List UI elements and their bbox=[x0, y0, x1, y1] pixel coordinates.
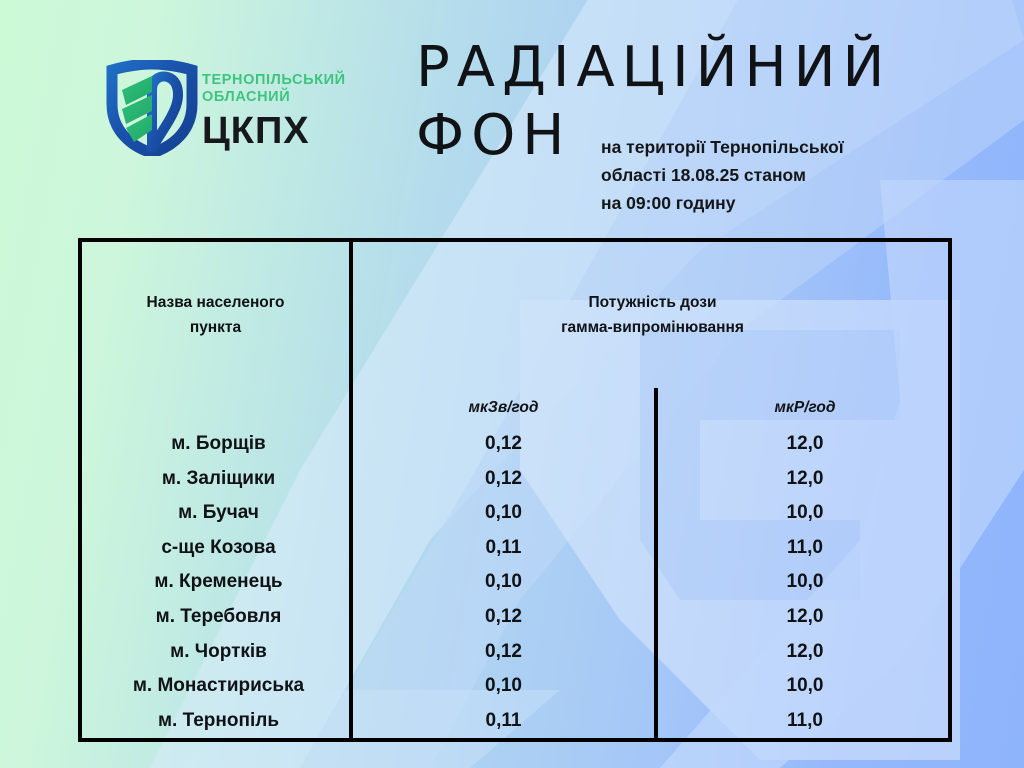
subtitle-line3: на 09:00 годину bbox=[601, 189, 971, 217]
header-dose-line1: Потужність дози bbox=[353, 290, 952, 315]
organization-logo: ТЕРНОПІЛЬСЬКИЙ ОБЛАСНИЙ ЦКПХ bbox=[106, 58, 406, 168]
cell-settlement-name: м. Тернопіль bbox=[82, 703, 351, 738]
cell-settlement-name: с-ще Козова bbox=[82, 531, 351, 566]
cell-dose-usv: 0,10 bbox=[351, 565, 656, 600]
subtitle-line2: області 18.08.25 станом bbox=[601, 161, 971, 189]
cell-dose-usv: 0,12 bbox=[351, 600, 656, 635]
cell-settlement-name: м. Борщів bbox=[82, 427, 351, 462]
table-row: м. Борщів0,1212,0 bbox=[82, 427, 952, 462]
cell-dose-usv: 0,11 bbox=[351, 531, 656, 566]
cell-settlement-name: м. Бучач bbox=[82, 496, 351, 531]
table-units-row: мкЗв/год мкР/год bbox=[82, 388, 952, 427]
units-cell-empty bbox=[82, 388, 351, 427]
table-row: м. Заліщики0,1212,0 bbox=[82, 462, 952, 497]
cell-dose-ur: 12,0 bbox=[656, 634, 952, 669]
cell-dose-usv: 0,11 bbox=[351, 703, 656, 738]
header-settlement-line2: пункта bbox=[82, 315, 349, 340]
org-abbreviation: ЦКПХ bbox=[202, 110, 412, 152]
table-row: м. Чортків0,1212,0 bbox=[82, 634, 952, 669]
cell-settlement-name: м. Теребовля bbox=[82, 600, 351, 635]
table-body: м. Борщів0,1212,0м. Заліщики0,1212,0м. Б… bbox=[82, 427, 952, 738]
org-name-line2: ОБЛАСНИЙ bbox=[202, 89, 412, 106]
header-cell-settlement: Назва населеного пункта bbox=[82, 242, 351, 388]
cell-settlement-name: м. Чортків bbox=[82, 634, 351, 669]
cell-dose-usv: 0,10 bbox=[351, 669, 656, 704]
table-row: м. Тернопіль0,1111,0 bbox=[82, 703, 952, 738]
page-subtitle: на території Тернопільської області 18.0… bbox=[601, 133, 971, 217]
cell-dose-ur: 10,0 bbox=[656, 565, 952, 600]
units-cell-usv: мкЗв/год bbox=[351, 388, 656, 427]
org-name-line1: ТЕРНОПІЛЬСЬКИЙ bbox=[202, 72, 412, 89]
cell-dose-ur: 11,0 bbox=[656, 703, 952, 738]
table-row: м. Теребовля0,1212,0 bbox=[82, 600, 952, 635]
page-title-line1: РАДІАЦІЙНИЙ bbox=[416, 35, 891, 100]
cell-dose-ur: 12,0 bbox=[656, 427, 952, 462]
poster-canvas: ТЕРНОПІЛЬСЬКИЙ ОБЛАСНИЙ ЦКПХ РАДІАЦІЙНИЙ… bbox=[0, 0, 1024, 768]
shield-heart-logo-icon bbox=[106, 60, 198, 156]
cell-dose-ur: 10,0 bbox=[656, 496, 952, 531]
header-cell-dose-rate: Потужність дози гамма-випромінювання bbox=[351, 242, 952, 388]
cell-settlement-name: м. Кременець bbox=[82, 565, 351, 600]
cell-dose-ur: 12,0 bbox=[656, 462, 952, 497]
cell-dose-usv: 0,12 bbox=[351, 427, 656, 462]
table-row: м. Бучач0,1010,0 bbox=[82, 496, 952, 531]
cell-settlement-name: м. Заліщики bbox=[82, 462, 351, 497]
cell-dose-usv: 0,10 bbox=[351, 496, 656, 531]
table-row: с-ще Козова0,1111,0 bbox=[82, 531, 952, 566]
cell-dose-usv: 0,12 bbox=[351, 462, 656, 497]
units-cell-ur: мкР/год bbox=[656, 388, 952, 427]
header-settlement-line1: Назва населеного bbox=[82, 290, 349, 315]
subtitle-line1: на території Тернопільської bbox=[601, 133, 971, 161]
cell-dose-ur: 12,0 bbox=[656, 600, 952, 635]
header-dose-line2: гамма-випромінювання bbox=[353, 315, 952, 340]
radiation-table: Назва населеного пункта Потужність дози … bbox=[78, 238, 952, 742]
cell-dose-ur: 11,0 bbox=[656, 531, 952, 566]
table-header-row: Назва населеного пункта Потужність дози … bbox=[82, 242, 952, 388]
table-row: м. Монастириська0,1010,0 bbox=[82, 669, 952, 704]
table-row: м. Кременець0,1010,0 bbox=[82, 565, 952, 600]
cell-dose-ur: 10,0 bbox=[656, 669, 952, 704]
cell-dose-usv: 0,12 bbox=[351, 634, 656, 669]
cell-settlement-name: м. Монастириська bbox=[82, 669, 351, 704]
